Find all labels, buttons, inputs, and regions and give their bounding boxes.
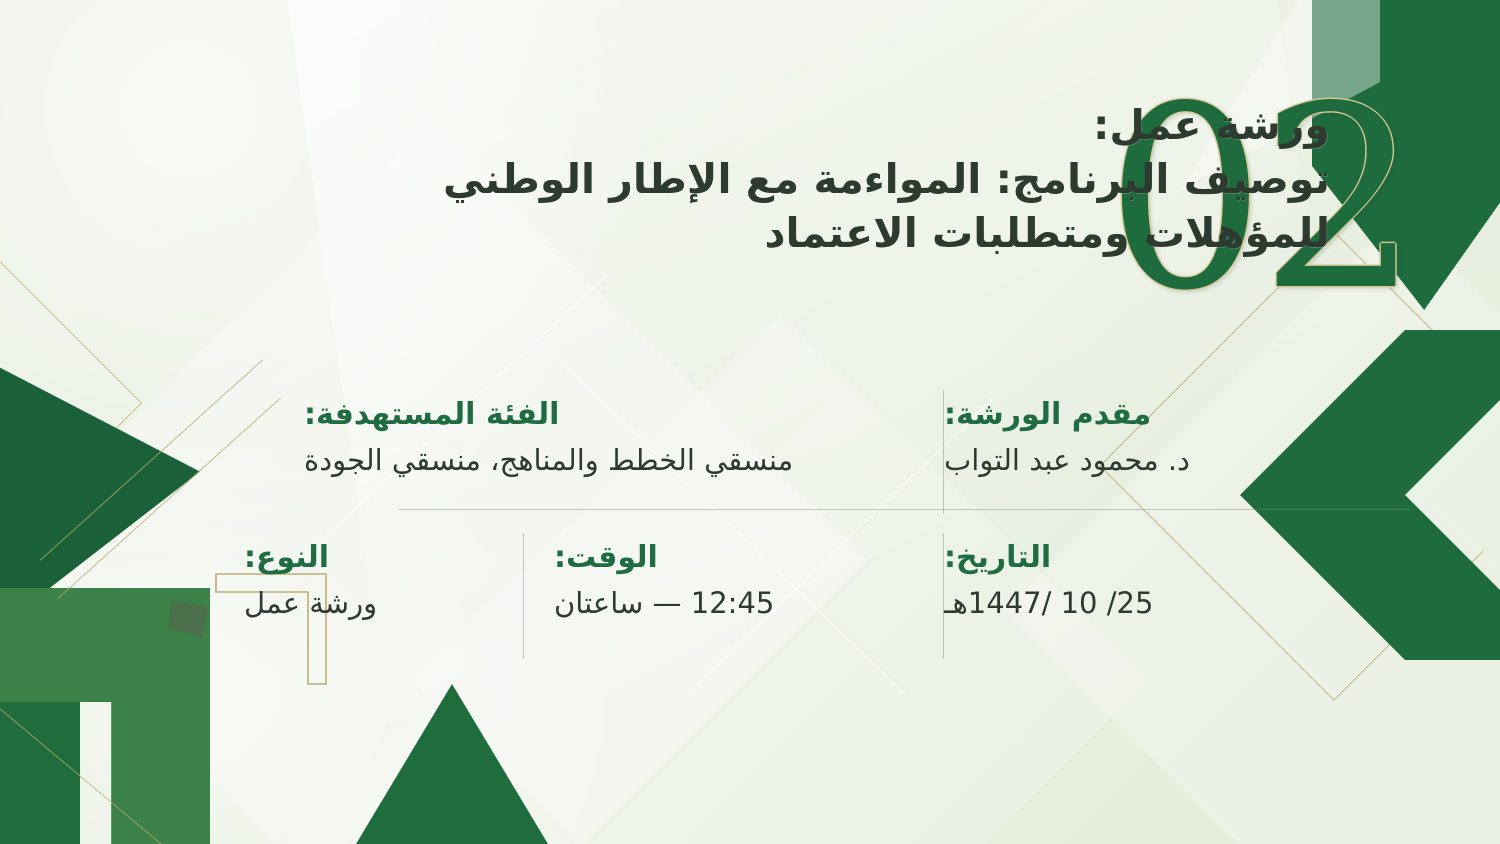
detail-type: النوع: ورشة عمل <box>214 539 524 624</box>
detail-presenter: مقدم الورشة: د. محمود عبد التواب <box>944 396 1304 481</box>
title-line-2: توصيف البرنامج: المواءمة مع الإطار الوطن… <box>190 152 1330 206</box>
workshop-details-grid: مقدم الورشة: د. محمود عبد التواب الفئة ا… <box>194 396 1304 624</box>
detail-audience-label: الفئة المستهدفة: <box>304 396 914 434</box>
page-title: ورشة عمل: توصيف البرنامج: المواءمة مع ال… <box>190 98 1330 260</box>
title-line-3: للمؤهلات ومتطلبات الاعتماد <box>190 206 1330 260</box>
detail-audience-value: منسقي الخطط والمناهج، منسقي الجودة <box>304 440 914 481</box>
title-line-1: ورشة عمل: <box>190 98 1330 152</box>
grid-divider-vertical-bottom-left <box>523 533 524 659</box>
detail-date: التاريخ: 25/ 10 /1447هـ <box>944 539 1304 624</box>
detail-date-label: التاريخ: <box>944 539 1274 577</box>
detail-presenter-value: د. محمود عبد التواب <box>944 440 1274 481</box>
detail-date-value: 25/ 10 /1447هـ <box>944 583 1274 624</box>
detail-presenter-label: مقدم الورشة: <box>944 396 1274 434</box>
detail-audience: الفئة المستهدفة: منسقي الخطط والمناهج، م… <box>274 396 944 481</box>
detail-type-label: النوع: <box>244 539 494 577</box>
detail-time-value: 12:45 — ساعتان <box>554 583 914 624</box>
details-row-bottom: التاريخ: 25/ 10 /1447هـ الوقت: 12:45 — س… <box>194 509 1304 624</box>
detail-time-label: الوقت: <box>554 539 914 577</box>
grid-divider-horizontal <box>399 509 1410 510</box>
workshop-poster: 02 ورشة عمل: توصيف البرنامج: المواءمة مع… <box>0 0 1500 844</box>
detail-type-value: ورشة عمل <box>244 583 494 624</box>
grid-divider-vertical-top <box>943 390 944 514</box>
grid-divider-vertical-bottom-right <box>943 533 944 659</box>
details-row-top: مقدم الورشة: د. محمود عبد التواب الفئة ا… <box>194 396 1304 509</box>
detail-time: الوقت: 12:45 — ساعتان <box>524 539 944 624</box>
